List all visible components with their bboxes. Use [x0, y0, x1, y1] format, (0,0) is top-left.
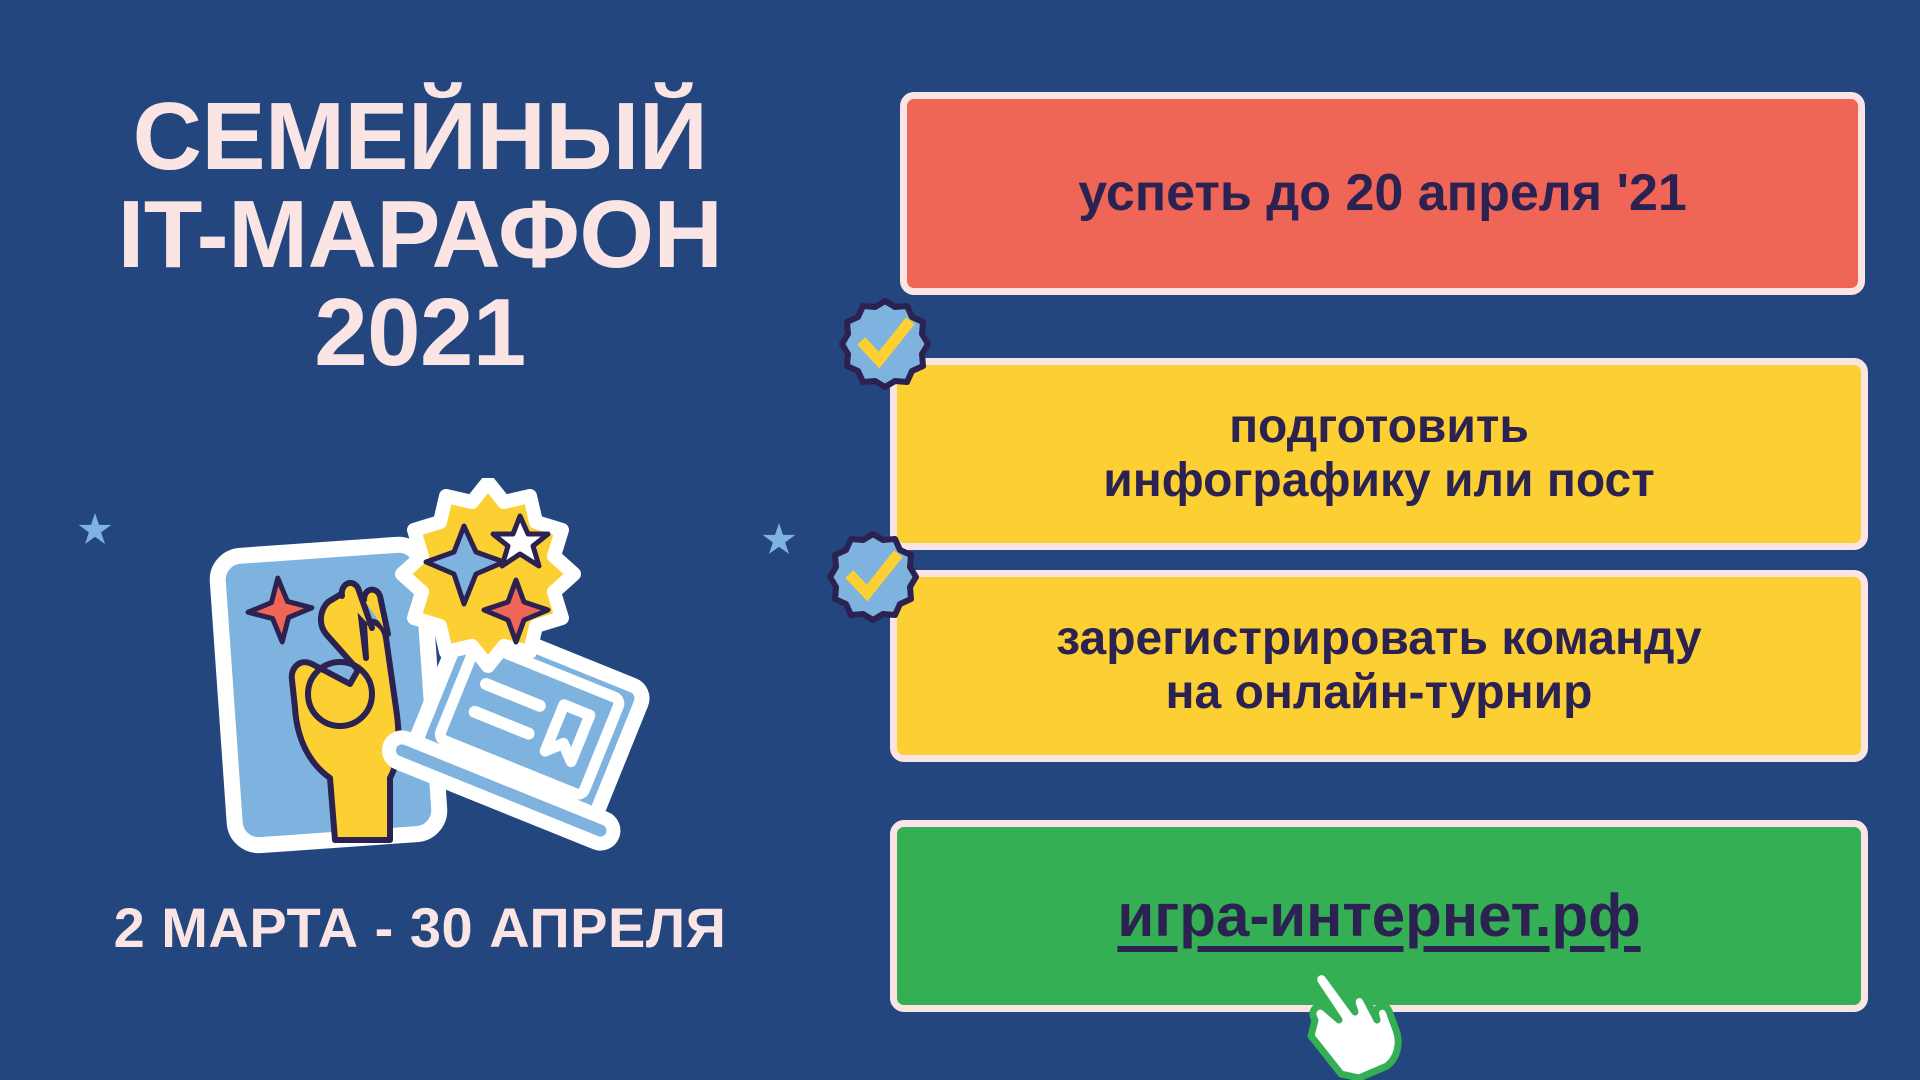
website-url-link[interactable]: игра-интернет.рф: [1117, 882, 1640, 949]
task-infographic-text: подготовить инфографику или пост: [1103, 400, 1654, 508]
poster-canvas: СЕМЕЙНЫЙ IT-МАРАФОН 2021: [0, 0, 1920, 1080]
pointing-hand-cursor-icon: [1297, 962, 1409, 1080]
title-line-2: IT-МАРАФОН: [0, 186, 840, 284]
task-register-text: зарегистрировать команду на онлайн-турни…: [1056, 612, 1701, 720]
title-line-1: СЕМЕЙНЫЙ: [0, 88, 840, 186]
task-infographic-line-2: инфографику или пост: [1103, 454, 1654, 507]
task-register-card[interactable]: зарегистрировать команду на онлайн-турни…: [890, 570, 1868, 762]
page-title: СЕМЕЙНЫЙ IT-МАРАФОН 2021: [0, 88, 840, 382]
star-icon: [762, 523, 796, 557]
deadline-text: успеть до 20 апреля '21: [1078, 164, 1687, 222]
task-register-line-2: на онлайн-турнир: [1166, 666, 1593, 719]
tablet-laptop-ok-hand-illustration: [200, 478, 660, 868]
task-infographic-card[interactable]: подготовить инфографику или пост: [890, 358, 1868, 550]
deadline-card[interactable]: успеть до 20 апреля '21: [900, 92, 1865, 295]
event-date-range: 2 МАРТА - 30 АПРЕЛЯ: [0, 895, 840, 960]
task-infographic-line-1: подготовить: [1229, 400, 1529, 453]
left-column: СЕМЕЙНЫЙ IT-МАРАФОН 2021: [0, 0, 840, 1080]
title-line-3: 2021: [0, 284, 840, 382]
right-column: успеть до 20 апреля '21 подготовить инфо…: [885, 0, 1920, 1080]
check-badge-icon: [839, 298, 931, 390]
check-badge-icon: [827, 531, 919, 623]
star-icon: [78, 513, 112, 547]
task-register-line-1: зарегистрировать команду: [1056, 612, 1701, 665]
